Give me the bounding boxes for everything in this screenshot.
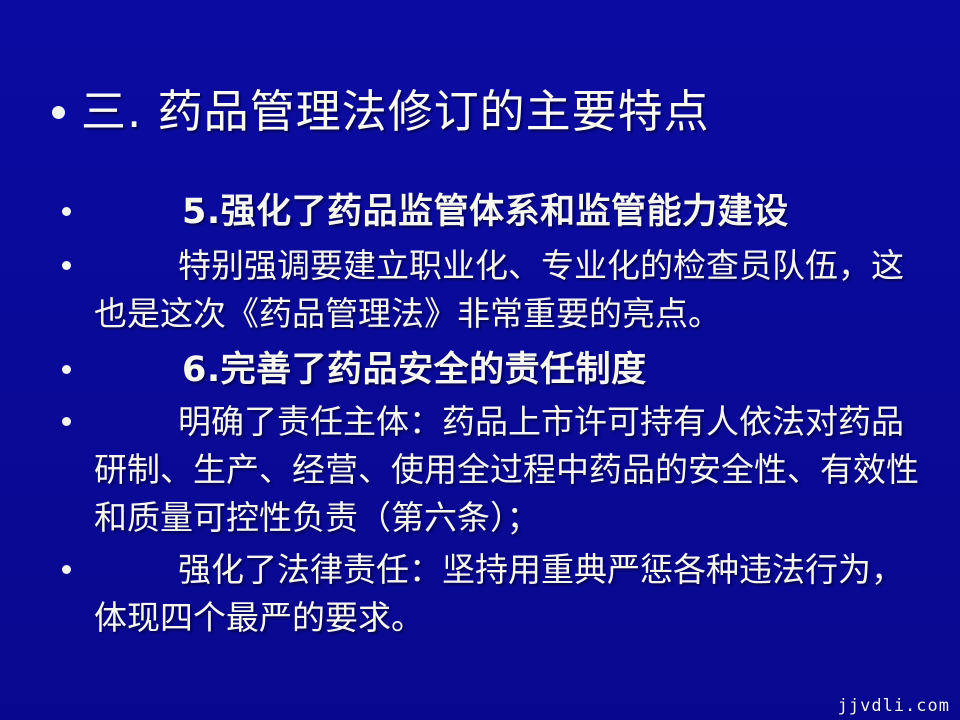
bullet-paragraph-6-2: 强化了法律责任：坚持用重典严惩各种违法行为，体现四个最严的要求。 xyxy=(52,546,932,642)
round-bullet-icon xyxy=(62,261,71,270)
paragraph-text: 明确了责任主体：药品上市许可持有人依法对药品研制、生产、经营、使用全过程中药品的… xyxy=(94,398,932,542)
bullet-paragraph-5-1: 特别强调要建立职业化、专业化的检查员队伍，这也是这次《药品管理法》非常重要的亮点… xyxy=(52,242,932,338)
watermark-label: jjvdli.com xyxy=(838,696,950,716)
bullet-paragraph-6-1: 明确了责任主体：药品上市许可持有人依法对药品研制、生产、经营、使用全过程中药品的… xyxy=(52,398,932,542)
round-bullet-icon xyxy=(62,417,71,426)
bullet-paragraph-heading-5: 5.强化了药品监管体系和监管能力建设 xyxy=(52,186,932,238)
presentation-slide: 三. 药品管理法修订的主要特点 5.强化了药品监管体系和监管能力建设 特别强调要… xyxy=(0,0,960,720)
round-bullet-icon xyxy=(52,106,65,119)
slide-body: 5.强化了药品监管体系和监管能力建设 特别强调要建立职业化、专业化的检查员队伍，… xyxy=(52,186,932,642)
paragraph-text: 特别强调要建立职业化、专业化的检查员队伍，这也是这次《药品管理法》非常重要的亮点… xyxy=(94,242,932,338)
round-bullet-icon xyxy=(62,565,71,574)
slide-title-text: 三. 药品管理法修订的主要特点 xyxy=(81,84,710,140)
paragraph-text: 强化了法律责任：坚持用重典严惩各种违法行为，体现四个最严的要求。 xyxy=(94,546,932,642)
paragraph-text: 5.强化了药品监管体系和监管能力建设 xyxy=(94,186,932,238)
bullet-paragraph-heading-6: 6.完善了药品安全的责任制度 xyxy=(52,344,932,396)
round-bullet-icon xyxy=(62,207,71,216)
round-bullet-icon xyxy=(62,365,71,374)
slide-title: 三. 药品管理法修订的主要特点 xyxy=(52,84,932,140)
paragraph-text: 6.完善了药品安全的责任制度 xyxy=(94,344,932,396)
